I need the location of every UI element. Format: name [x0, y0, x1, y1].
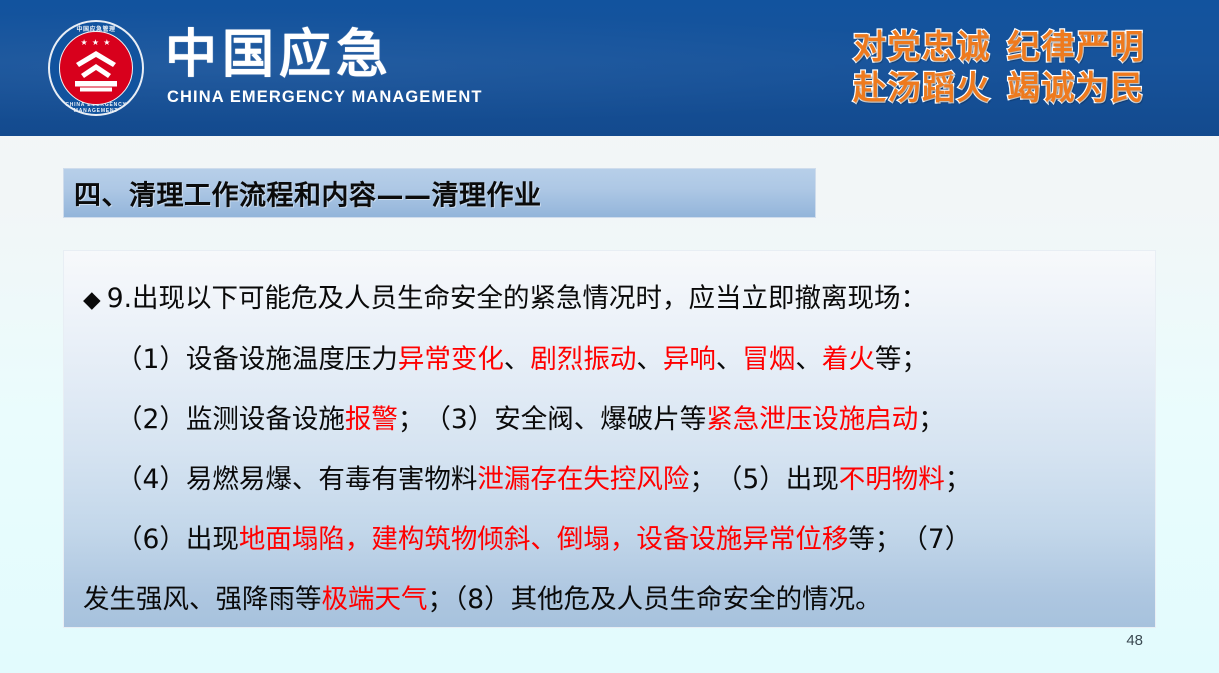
line-4-text-3: ；	[945, 464, 972, 495]
china-emergency-management-emblem-icon: 中国应急管理 CHINA EMERGENCY MANAGEMENT ★ ★ ★	[48, 20, 144, 116]
content-panel: ◆9.出现以下可能危及人员生命安全的紧急情况时，应当立即撤离现场： （1）设备设…	[63, 250, 1156, 628]
line-4-highlight-1: 泄漏存在失控风险	[477, 464, 689, 495]
line-1-text: 9.出现以下可能危及人员生命安全的紧急情况时，应当立即撤离现场：	[107, 283, 927, 314]
line-2-text-6: 等；	[875, 344, 928, 375]
line-2-highlight-4: 冒烟	[742, 344, 795, 375]
slogan-2b: 竭诚为民	[1007, 68, 1145, 107]
line-3-highlight-1: 报警	[345, 404, 398, 435]
content-line-1: ◆9.出现以下可能危及人员生命安全的紧急情况时，应当立即撤离现场：	[78, 269, 1135, 330]
slide: 中国应急管理 CHINA EMERGENCY MANAGEMENT ★ ★ ★ …	[0, 0, 1219, 673]
logo-chinese-title: 中国应急	[165, 26, 393, 84]
section-title-text: 四、清理工作流程和内容——清理作业	[74, 174, 542, 213]
line-5-highlight-1: 地面塌陷，建构筑物倾斜、倒塌，设备设施异常位移	[239, 524, 849, 555]
content-line-4: （4）易燃易爆、有毒有害物料泄漏存在失控风险； （5）出现不明物料；	[78, 450, 1135, 510]
line-4-text-2: ； （5）出现	[689, 464, 838, 495]
line-6-text-2: ；（8）其他危及人员生命安全的情况。	[428, 584, 882, 615]
section-title-bar: 四、清理工作流程和内容——清理作业	[63, 168, 816, 218]
line-2-highlight-1: 异常变化	[398, 344, 504, 375]
content-line-3: （2）监测设备设施报警； （3）安全阀、爆破片等紧急泄压设施启动；	[78, 390, 1135, 450]
slogan-block: 对党忠诚纪律严明 赴汤蹈火竭诚为民	[853, 26, 1145, 108]
diamond-bullet-icon: ◆	[83, 287, 101, 313]
slogan-2a: 赴汤蹈火	[853, 68, 991, 107]
slogan-1b: 纪律严明	[1007, 27, 1145, 66]
line-3-text-1: （2）监测设备设施	[116, 404, 345, 435]
slogan-line-2: 赴汤蹈火竭诚为民	[853, 67, 1145, 108]
line-2-text-2: 、	[504, 344, 531, 375]
page-number: 48	[1126, 632, 1143, 649]
line-2-text-3: 、	[636, 344, 663, 375]
content-line-6: 发生强风、强降雨等极端天气；（8）其他危及人员生命安全的情况。	[78, 570, 1135, 630]
line-5-text-2: 等； （7）	[848, 524, 971, 555]
content-line-5: （6）出现地面塌陷，建构筑物倾斜、倒塌，设备设施异常位移等； （7）	[78, 510, 1135, 570]
line-4-text-1: （4）易燃易爆、有毒有害物料	[116, 464, 477, 495]
line-4-highlight-2: 不明物料	[839, 464, 945, 495]
logo-english-title: CHINA EMERGENCY MANAGEMENT	[167, 88, 483, 107]
slogan-line-1: 对党忠诚纪律严明	[853, 26, 1145, 67]
line-3-highlight-2: 紧急泄压设施启动	[706, 404, 918, 435]
line-3-text-2: ； （3）安全阀、爆破片等	[398, 404, 706, 435]
line-6-highlight-1: 极端天气	[322, 584, 428, 615]
line-5-text-1: （6）出现	[116, 524, 239, 555]
header-banner: 中国应急管理 CHINA EMERGENCY MANAGEMENT ★ ★ ★ …	[0, 0, 1219, 136]
line-2-highlight-3: 异响	[663, 344, 716, 375]
line-3-text-3: ；	[918, 404, 945, 435]
line-6-text-1: 发生强风、强降雨等	[83, 584, 322, 615]
line-2-highlight-5: 着火	[822, 344, 875, 375]
line-2-text-5: 、	[795, 344, 822, 375]
line-2-text-4: 、	[716, 344, 743, 375]
line-2-highlight-2: 剧烈振动	[530, 344, 636, 375]
content-line-2: （1）设备设施温度压力异常变化、剧烈振动、异响、冒烟、着火等；	[78, 330, 1135, 390]
slogan-1a: 对党忠诚	[853, 27, 991, 66]
line-2-text-1: （1）设备设施温度压力	[116, 344, 398, 375]
emblem-gate-icon	[71, 50, 121, 92]
emblem-stars-icon: ★ ★ ★	[48, 39, 144, 47]
